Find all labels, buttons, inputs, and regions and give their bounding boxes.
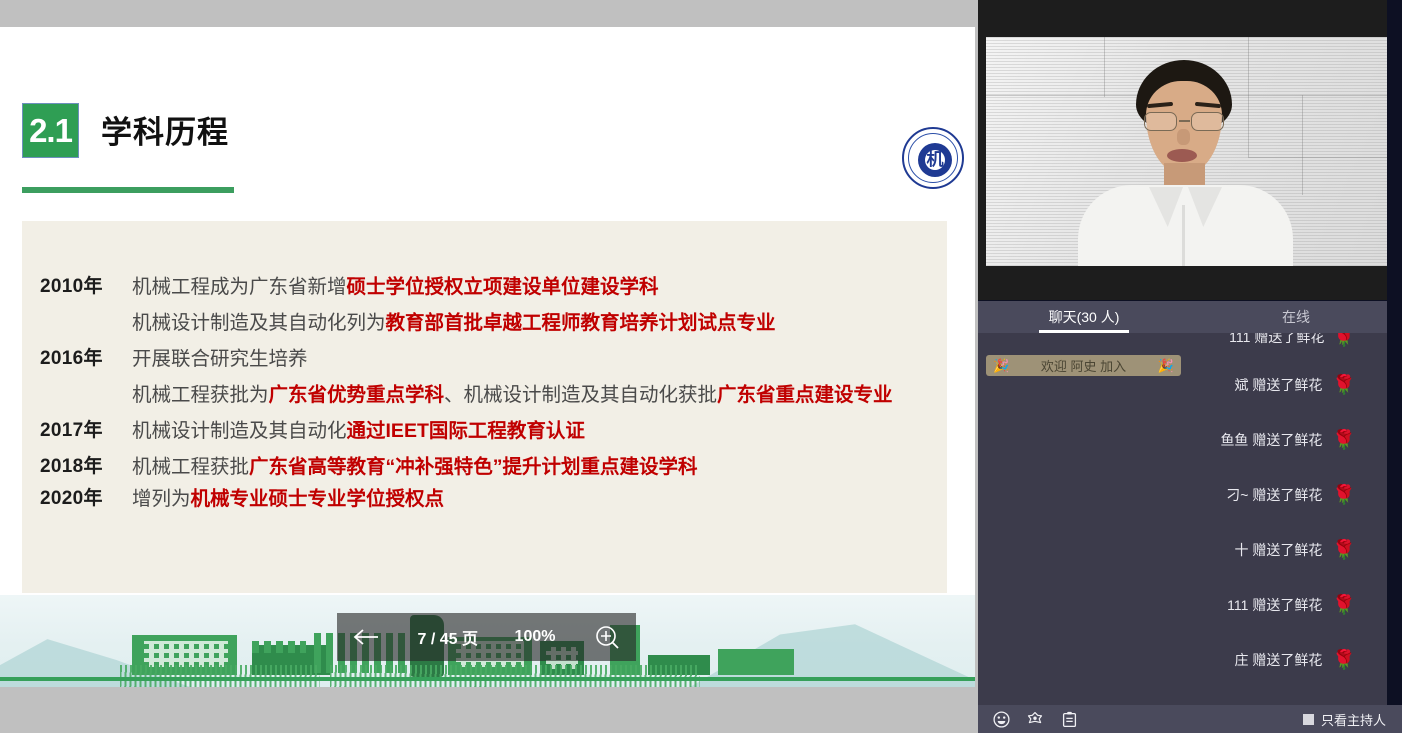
- timeline-row: 机械工程获批为广东省优势重点学科、机械设计制造及其自动化获批广东省重点建设专业: [22, 377, 947, 413]
- chat-message-text: 111 赠送了鲜花: [1227, 595, 1322, 615]
- rose-icon: 🌹: [1332, 596, 1356, 615]
- tab-online[interactable]: 在线: [1190, 301, 1402, 333]
- timeline-row: 2020年 增列为机械专业硕士专业学位授权点: [22, 481, 947, 517]
- panel-edge: [1387, 0, 1402, 705]
- logo-glyph: 机: [925, 149, 945, 171]
- join-banner-text: 欢迎 阿史 加入: [1041, 356, 1126, 375]
- zoom-level-label: 100%: [515, 628, 556, 646]
- zoom-in-icon[interactable]: [592, 622, 622, 652]
- timeline-row: 2018年 机械工程获批广东省高等教育“冲补强特色”提升计划重点建设学科: [22, 449, 947, 485]
- timeline-card: 2010年 机械工程成为广东省新增硕士学位授权立项建设单位建设学科 机械设计制造…: [22, 221, 947, 593]
- chat-message-list[interactable]: 111 赠送了鲜花 🌹 🎉 欢迎 阿史 加入 🎉 斌 赠送了鲜花 🌹 鱼鱼 赠送…: [978, 333, 1402, 705]
- timeline-row: 2016年 开展联合研究生培养: [22, 341, 947, 377]
- checkbox-box: [1303, 714, 1314, 725]
- chat-message-text: 刁~ 赠送了鲜花: [1226, 485, 1322, 505]
- clipboard-icon[interactable]: [1056, 709, 1082, 729]
- presentation-slide: 2.1 学科历程 机 2010年 机械工程成为广东省新增硕士学位授权立项建设单位…: [0, 27, 975, 687]
- timeline-desc: 机械设计制造及其自动化列为教育部首批卓越工程师教育培养计划试点专业: [132, 305, 776, 341]
- meeting-screen: 2.1 学科历程 机 2010年 机械工程成为广东省新增硕士学位授权立项建设单位…: [0, 0, 1402, 733]
- chat-footer-toolbar: 只看主持人: [978, 705, 1402, 733]
- rose-icon: 🌹: [1332, 651, 1356, 670]
- timeline-desc: 机械工程获批为广东省优势重点学科、机械设计制造及其自动化获批广东省重点建设专业: [132, 377, 893, 413]
- tab-chat[interactable]: 聊天(30 人): [978, 301, 1190, 333]
- host-only-label: 只看主持人: [1321, 710, 1386, 729]
- chat-message-text: 斌 赠送了鲜花: [1234, 375, 1322, 395]
- video-stage: [978, 0, 1387, 300]
- timeline-desc: 增列为机械专业硕士专业学位授权点: [132, 481, 444, 517]
- chat-message-text: 111 赠送了鲜花: [1229, 333, 1324, 347]
- page-indicator: 7 / 45 页: [418, 625, 478, 649]
- list-item: 111 赠送了鲜花 🌹: [978, 595, 1378, 615]
- host-only-checkbox[interactable]: 只看主持人: [1303, 710, 1392, 729]
- timeline-row: 2010年 机械工程成为广东省新增硕士学位授权立项建设单位建设学科: [22, 269, 947, 305]
- tab-chat-label: 聊天(30 人): [1049, 307, 1120, 327]
- list-item: 111 赠送了鲜花 🌹: [978, 333, 1378, 347]
- chat-tab-bar: 聊天(30 人) 在线: [978, 301, 1402, 333]
- rose-icon: 🌹: [1332, 333, 1356, 347]
- list-item: 刁~ 赠送了鲜花 🌹: [978, 485, 1378, 505]
- smiley-icon[interactable]: [988, 709, 1014, 729]
- timeline-row: 2017年 机械设计制造及其自动化通过IEET国际工程教育认证: [22, 413, 947, 449]
- list-item: 庄 赠送了鲜花 🌹: [978, 650, 1378, 670]
- timeline-row: 机械设计制造及其自动化列为教育部首批卓越工程师教育培养计划试点专业: [22, 305, 947, 341]
- university-logo-icon: 机: [902, 127, 964, 189]
- previous-slide-button[interactable]: [351, 622, 381, 652]
- timeline-year: 2016年: [40, 341, 130, 377]
- tab-online-label: 在线: [1282, 307, 1310, 327]
- section-number-badge: 2.1: [22, 103, 79, 158]
- timeline-desc: 机械工程获批广东省高等教育“冲补强特色”提升计划重点建设学科: [132, 449, 698, 485]
- list-item: 鱼鱼 赠送了鲜花 🌹: [978, 430, 1378, 450]
- speaker-video[interactable]: [986, 37, 1387, 266]
- flower-gift-icon[interactable]: [1022, 709, 1048, 729]
- meeting-side-panel: 聊天(30 人) 在线 111 赠送了鲜花 🌹 🎉 欢迎 阿史 加入 🎉 斌 赠…: [978, 0, 1402, 733]
- timeline-year: 2018年: [40, 449, 130, 485]
- party-popper-icon: 🎉: [1158, 358, 1174, 374]
- timeline-desc: 机械设计制造及其自动化通过IEET国际工程教育认证: [132, 413, 585, 449]
- timeline-year: 2017年: [40, 413, 130, 449]
- rose-icon: 🌹: [1332, 376, 1356, 395]
- rose-icon: 🌹: [1332, 541, 1356, 560]
- timeline-desc: 机械工程成为广东省新增硕士学位授权立项建设单位建设学科: [132, 269, 659, 305]
- list-item: 斌 赠送了鲜花 🌹: [978, 375, 1378, 395]
- slide-viewer-toolbar: 7 / 45 页 100%: [337, 613, 636, 661]
- list-item: 十 赠送了鲜花 🌹: [978, 540, 1378, 560]
- party-popper-icon: 🎉: [993, 358, 1009, 374]
- chat-message-text: 十 赠送了鲜花: [1234, 540, 1322, 560]
- slide-title-row: 2.1 学科历程: [22, 103, 242, 175]
- title-underline: [22, 187, 234, 193]
- slide-viewer: 2.1 学科历程 机 2010年 机械工程成为广东省新增硕士学位授权立项建设单位…: [0, 0, 978, 733]
- timeline-year: 2020年: [40, 481, 130, 517]
- rose-icon: 🌹: [1332, 431, 1356, 450]
- join-notification-banner: 🎉 欢迎 阿史 加入 🎉: [986, 355, 1181, 376]
- rose-icon: 🌹: [1332, 486, 1356, 505]
- chat-message-text: 庄 赠送了鲜花: [1234, 650, 1322, 670]
- timeline-desc: 开展联合研究生培养: [132, 341, 308, 377]
- chat-message-text: 鱼鱼 赠送了鲜花: [1220, 430, 1322, 450]
- timeline-year: 2010年: [40, 269, 130, 305]
- page-title: 学科历程: [101, 107, 229, 152]
